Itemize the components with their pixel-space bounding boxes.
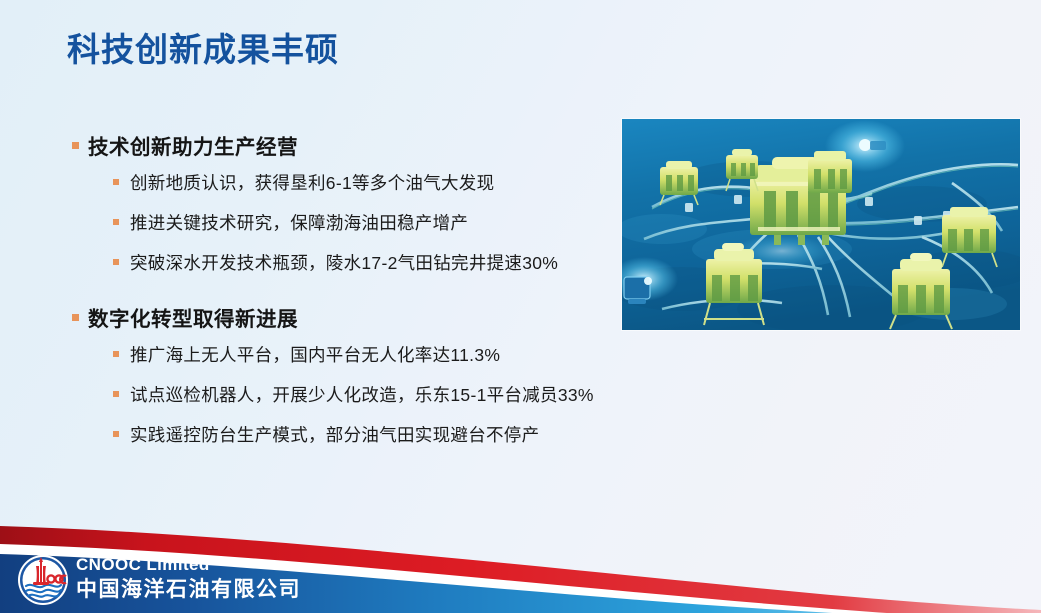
content-section-2: 数字化转型取得新进展 推广海上无人平台，国内平台无人化率达11.3% 试点巡检机… [62, 300, 622, 454]
square-bullet-icon [113, 179, 119, 185]
footer-company-text: CNOOC Limited 中国海洋石油有限公司 [76, 556, 301, 600]
list-item-label: 突破深水开发技术瓶颈，陵水17-2气田钻完井提速30% [130, 250, 558, 275]
square-bullet-icon [113, 391, 119, 397]
list-item-label: 实践遥控防台生产模式，部分油气田实现避台不停产 [130, 422, 539, 447]
list-item: 突破深水开发技术瓶颈，陵水17-2气田钻完井提速30% [62, 242, 622, 282]
list-item: 创新地质认识，获得垦利6-1等多个油气大发现 [62, 162, 622, 202]
square-bullet-icon [113, 431, 119, 437]
square-bullet-icon [113, 259, 119, 265]
section-heading-label: 数字化转型取得新进展 [88, 302, 298, 332]
company-name-en: CNOOC Limited [76, 556, 301, 573]
section-heading-label: 技术创新助力生产经营 [88, 130, 298, 160]
cnooc-logo [14, 552, 72, 607]
list-item: 推进关键技术研究，保障渤海油田稳产增产 [62, 202, 622, 242]
slide: 科技创新成果丰硕 技术创新助力生产经营 创新地质认识，获得垦利6-1等多个油气大… [0, 0, 1041, 613]
list-item-label: 推进关键技术研究，保障渤海油田稳产增产 [130, 210, 468, 235]
content-section-1: 技术创新助力生产经营 创新地质认识，获得垦利6-1等多个油气大发现 推进关键技术… [62, 128, 622, 282]
square-bullet-icon [113, 219, 119, 225]
square-bullet-icon [72, 314, 79, 321]
slide-content: 技术创新助力生产经营 创新地质认识，获得垦利6-1等多个油气大发现 推进关键技术… [62, 128, 622, 454]
square-bullet-icon [113, 351, 119, 357]
list-item-label: 试点巡检机器人，开展少人化改造，乐东15-1平台减员33% [130, 382, 594, 407]
list-item: 实践遥控防台生产模式，部分油气田实现避台不停产 [62, 414, 622, 454]
list-item: 试点巡检机器人，开展少人化改造，乐东15-1平台减员33% [62, 374, 622, 414]
square-bullet-icon [72, 142, 79, 149]
list-item-label: 创新地质认识，获得垦利6-1等多个油气大发现 [130, 170, 494, 195]
list-item: 推广海上无人平台，国内平台无人化率达11.3% [62, 334, 622, 374]
list-item-label: 推广海上无人平台，国内平台无人化率达11.3% [130, 342, 500, 367]
page-title: 科技创新成果丰硕 [67, 30, 339, 70]
subsea-production-system-photo [622, 119, 1020, 330]
section-heading-1: 技术创新助力生产经营 [62, 128, 622, 162]
section-heading-2: 数字化转型取得新进展 [62, 300, 622, 334]
company-name-cn: 中国海洋石油有限公司 [76, 579, 301, 600]
